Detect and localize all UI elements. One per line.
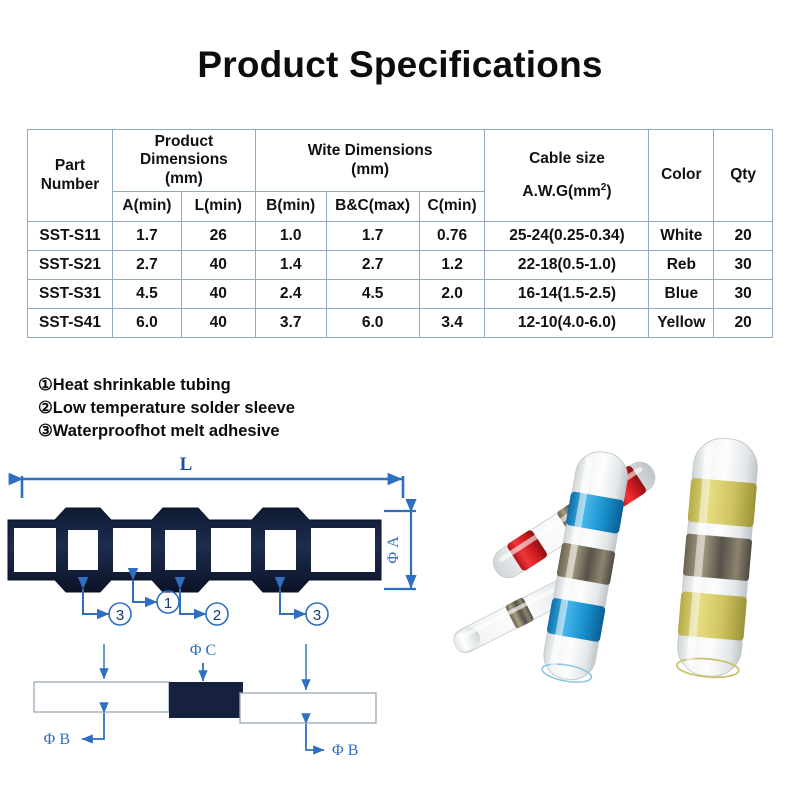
callout-number-2: 2 [213, 607, 221, 624]
header-qty: Qty [714, 130, 773, 222]
header-part-number: Part Number [28, 130, 113, 222]
cell-bc-max: 2.7 [326, 251, 419, 280]
table-row: SST-S31 4.5 40 2.4 4.5 2.0 16-14(1.5-2.5… [28, 280, 773, 309]
length-dimension-label: L [180, 454, 193, 475]
callout-leader-3-left [83, 589, 109, 614]
cell-bc-max: 4.5 [326, 280, 419, 309]
cell-b-min: 1.0 [255, 222, 326, 251]
header-cable-size: Cable size A.W.G(mm2) [485, 130, 649, 222]
cell-a-min: 4.5 [113, 280, 182, 309]
connector-body-illustration [8, 508, 381, 592]
subheader-l-min: L(min) [181, 192, 255, 222]
note-item-3: ③Waterproofhot melt adhesive [38, 420, 378, 443]
right-wire-bar [240, 693, 376, 723]
cell-color: Reb [649, 251, 714, 280]
yellow-solder-sleeve [674, 436, 761, 680]
yellow-band-bottom [678, 591, 748, 641]
diameter-a-label: Φ A [385, 536, 402, 564]
cell-qty: 20 [714, 222, 773, 251]
yellow-band-top [688, 478, 758, 528]
header-wire-dimensions: Wite Dimensions (mm) [255, 130, 485, 192]
callout-leader-2 [180, 589, 206, 614]
header-color: Color [649, 130, 714, 222]
cell-part-number: SST-S21 [28, 251, 113, 280]
cell-b-min: 1.4 [255, 251, 326, 280]
cell-awg: 22-18(0.5-1.0) [485, 251, 649, 280]
subheader-awg-close: ) [606, 183, 611, 200]
callout-number-3-left: 3 [116, 607, 124, 624]
header-cable-size-label: Cable size [487, 150, 646, 168]
wire-splice-cross-section: Φ C Φ B Φ B [34, 642, 376, 759]
cell-qty: 30 [714, 251, 773, 280]
header-wire-dimensions-line2: (mm) [351, 161, 389, 178]
header-product-dimensions: Product Dimensions (mm) [113, 130, 256, 192]
cell-awg: 25-24(0.25-0.34) [485, 222, 649, 251]
subheader-awg: A.W.G(mm [522, 183, 600, 200]
specifications-table: Part Number Product Dimensions (mm) Wite… [27, 129, 773, 338]
cell-a-min: 2.7 [113, 251, 182, 280]
note-item-2: ②Low temperature solder sleeve [38, 397, 378, 420]
callout-leader-1 [133, 580, 157, 602]
header-part-number-line2: Number [41, 176, 100, 193]
cell-l-min: 40 [181, 309, 255, 338]
cell-color: Blue [649, 280, 714, 309]
callout-leader-3-right [280, 589, 306, 614]
product-specification-page: Product Specifications Part Number Produ… [0, 0, 800, 800]
cell-qty: 20 [714, 309, 773, 338]
subheader-a-min: A(min) [113, 192, 182, 222]
cell-bc-max: 6.0 [326, 309, 419, 338]
cell-awg: 12-10(4.0-6.0) [485, 309, 649, 338]
blue-solder-sleeve [539, 448, 632, 686]
cell-color: Yellow [649, 309, 714, 338]
diameter-b-label-left: Φ B [44, 731, 70, 748]
subheader-c-min: C(min) [419, 192, 485, 222]
header-product-dimensions-line1: Product [155, 133, 214, 150]
left-wire-bar [34, 682, 169, 712]
header-product-dimensions-line2: Dimensions [140, 151, 228, 168]
cell-bc-max: 1.7 [326, 222, 419, 251]
diameter-c-label: Φ C [190, 642, 216, 659]
cell-part-number: SST-S41 [28, 309, 113, 338]
cell-a-min: 6.0 [113, 309, 182, 338]
header-part-number-line1: Part [55, 157, 85, 174]
cell-c-min: 3.4 [419, 309, 485, 338]
cell-part-number: SST-S11 [28, 222, 113, 251]
callout-number-1: 1 [164, 595, 172, 612]
cell-a-min: 1.7 [113, 222, 182, 251]
cell-qty: 30 [714, 280, 773, 309]
table-row: SST-S41 6.0 40 3.7 6.0 3.4 12-10(4.0-6.0… [28, 309, 773, 338]
table-header-group-row: Part Number Product Dimensions (mm) Wite… [28, 130, 773, 192]
page-title: Product Specifications [0, 44, 800, 86]
header-product-dimensions-line3: (mm) [165, 170, 203, 187]
product-photo-group [448, 430, 800, 800]
feature-notes-list: ①Heat shrinkable tubing ②Low temperature… [38, 374, 378, 443]
header-wire-dimensions-line1: Wite Dimensions [308, 142, 433, 159]
subheader-b-min: B(min) [255, 192, 326, 222]
cell-color: White [649, 222, 714, 251]
table-row: SST-S11 1.7 26 1.0 1.7 0.76 25-24(0.25-0… [28, 222, 773, 251]
cell-c-min: 2.0 [419, 280, 485, 309]
cell-b-min: 3.7 [255, 309, 326, 338]
cell-c-min: 1.2 [419, 251, 485, 280]
diameter-b-label-right: Φ B [332, 742, 358, 759]
subheader-bc-max: B&C(max) [326, 192, 419, 222]
specifications-table-container: Part Number Product Dimensions (mm) Wite… [27, 129, 773, 338]
cell-b-min: 2.4 [255, 280, 326, 309]
technical-diagram: L Φ A [0, 452, 450, 772]
cell-part-number: SST-S31 [28, 280, 113, 309]
cell-c-min: 0.76 [419, 222, 485, 251]
table-row: SST-S21 2.7 40 1.4 2.7 1.2 22-18(0.5-1.0… [28, 251, 773, 280]
callout-number-3-right: 3 [313, 607, 321, 624]
cell-l-min: 26 [181, 222, 255, 251]
solder-ring [683, 534, 752, 582]
cell-l-min: 40 [181, 251, 255, 280]
cell-l-min: 40 [181, 280, 255, 309]
cell-awg: 16-14(1.5-2.5) [485, 280, 649, 309]
note-item-1: ①Heat shrinkable tubing [38, 374, 378, 397]
